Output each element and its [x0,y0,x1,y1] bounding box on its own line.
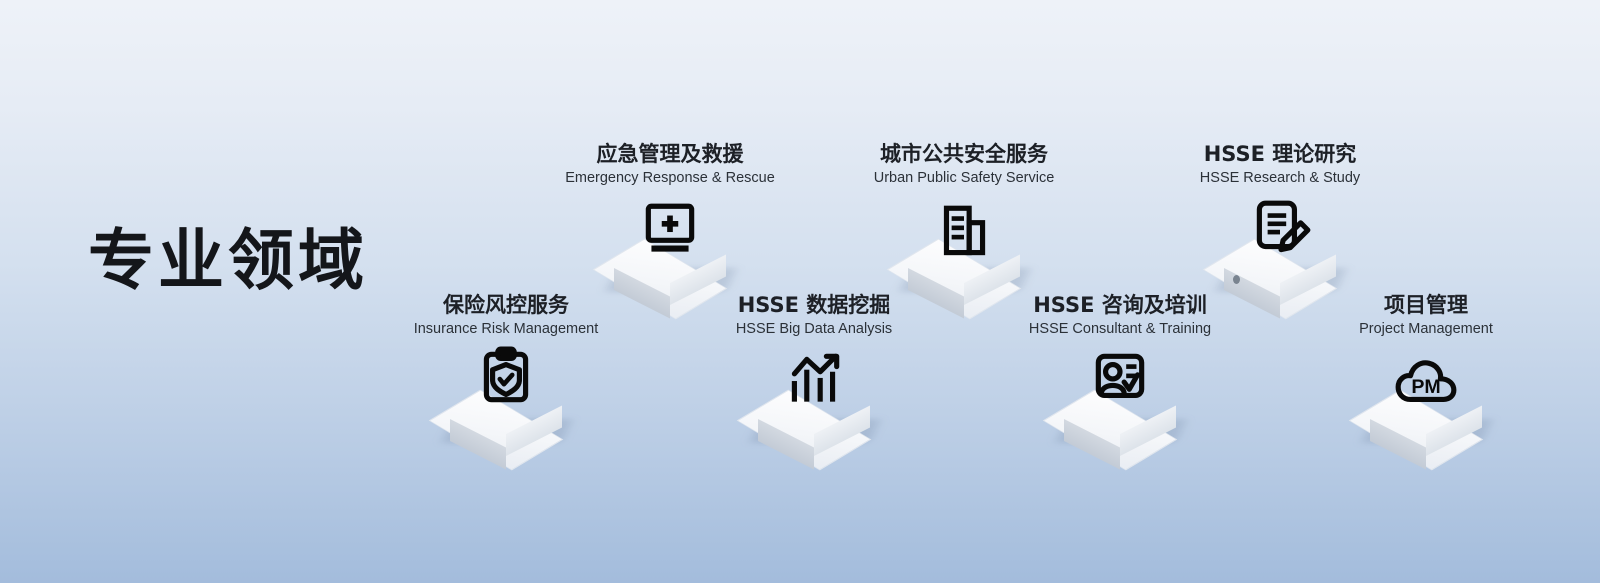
feature-item-hsse-research[interactable]: HSSE 理论研究 HSSE Research & Study [1150,142,1410,306]
buildings-icon [931,200,997,266]
cloud-pm-icon: PM [1393,353,1459,419]
feature-item-project-management[interactable]: 项目管理 Project Management PM [1296,293,1556,457]
feature-artwork [540,196,800,306]
feature-artwork [990,347,1250,457]
feature-artwork [1150,196,1410,306]
feature-label-en: Urban Public Safety Service [834,169,1094,189]
feature-label-cn: 城市公共安全服务 [834,142,1094,167]
feature-artwork [684,347,944,457]
feature-labels: HSSE 理论研究 HSSE Research & Study [1150,142,1410,188]
feature-labels: 保险风控服务 Insurance Risk Management [376,293,636,339]
feature-label-en: HSSE Consultant & Training [990,320,1250,340]
feature-labels: HSSE 数据挖掘 HSSE Big Data Analysis [684,293,944,339]
monitor-plus-icon [637,198,703,264]
feature-label-cn: 应急管理及救援 [540,142,800,167]
infographic-stage: 专业领域 应急管理及救援 Emergency Response & Rescue [0,0,1600,583]
feature-label-cn: HSSE 理论研究 [1150,142,1410,167]
feature-label-en: HSSE Research & Study [1150,169,1410,189]
feature-label-en: Insurance Risk Management [376,320,636,340]
feature-label-cn: HSSE 数据挖掘 [684,293,944,318]
feature-item-emergency-response[interactable]: 应急管理及救援 Emergency Response & Rescue [540,142,800,306]
feature-artwork: PM [1296,347,1556,457]
feature-labels: HSSE 咨询及培训 HSSE Consultant & Training [990,293,1250,339]
feature-item-hsse-big-data[interactable]: HSSE 数据挖掘 HSSE Big Data Analysis [684,293,944,457]
document-pencil-icon [1247,196,1313,262]
feature-item-hsse-consultant[interactable]: HSSE 咨询及培训 HSSE Consultant & Training [990,293,1250,457]
feature-artwork [376,347,636,457]
feature-label-cn: 保险风控服务 [376,293,636,318]
clipboard-shield-check-icon [473,345,539,411]
feature-label-en: Emergency Response & Rescue [540,169,800,189]
feature-artwork [834,196,1094,306]
person-card-check-icon [1087,347,1153,413]
page-title: 专业领域 [88,228,368,294]
feature-label-en: Project Management [1296,320,1556,340]
feature-label-cn: HSSE 咨询及培训 [990,293,1250,318]
feature-labels: 应急管理及救援 Emergency Response & Rescue [540,142,800,188]
feature-label-cn: 项目管理 [1296,293,1556,318]
feature-labels: 城市公共安全服务 Urban Public Safety Service [834,142,1094,188]
bar-chart-trend-icon [781,347,847,413]
feature-labels: 项目管理 Project Management [1296,293,1556,339]
feature-label-en: HSSE Big Data Analysis [684,320,944,340]
feature-item-urban-public-safety[interactable]: 城市公共安全服务 Urban Public Safety Service [834,142,1094,306]
feature-item-insurance-risk[interactable]: 保险风控服务 Insurance Risk Management [376,293,636,457]
cloud-pm-text: PM [1411,377,1440,399]
